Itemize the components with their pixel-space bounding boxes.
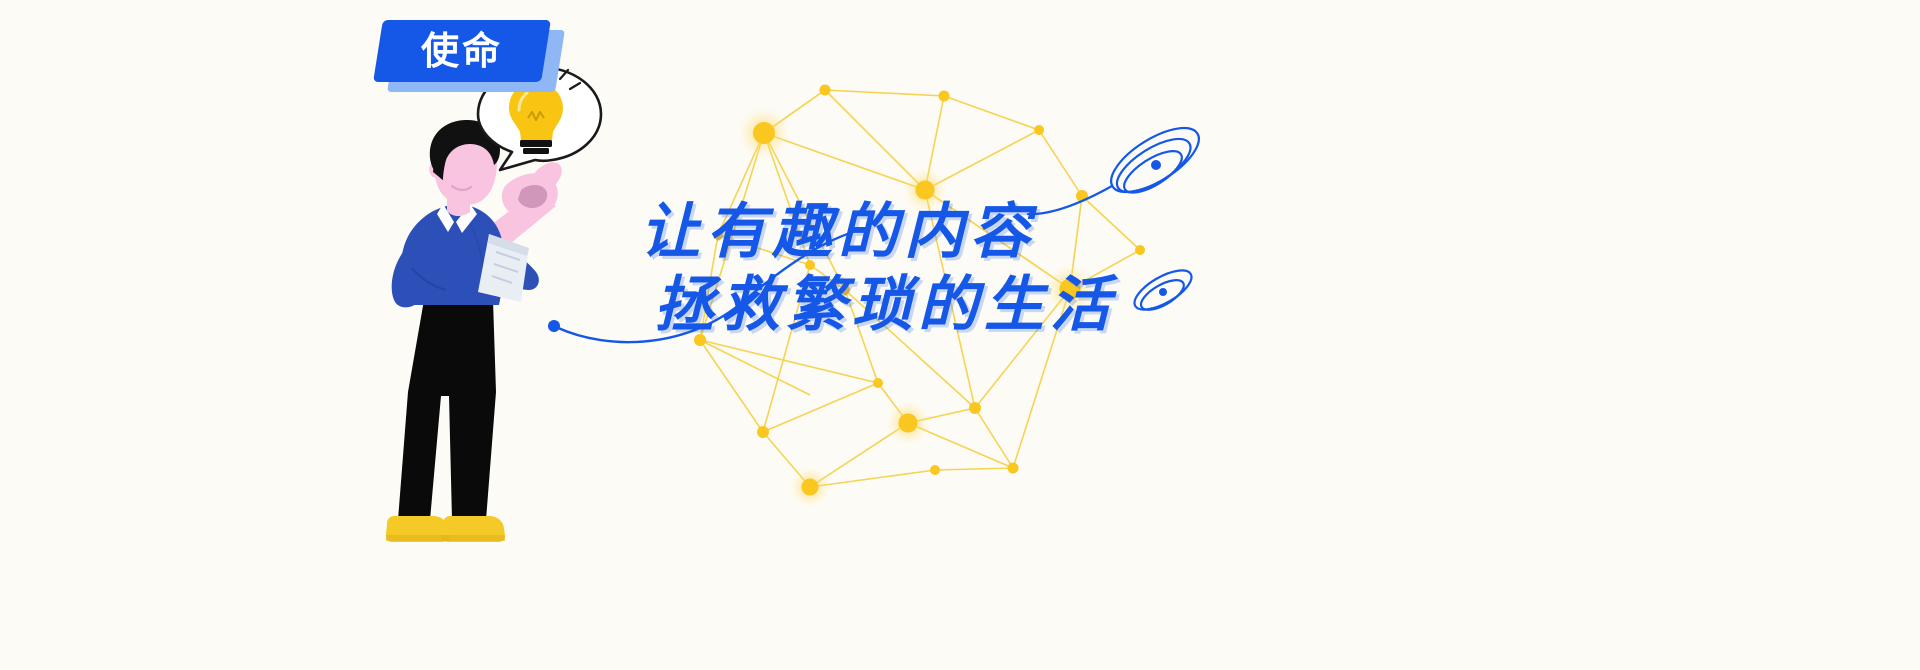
mission-badge: 使命	[378, 12, 563, 94]
badge-body: 使命	[373, 20, 551, 82]
badge-label: 使命	[421, 32, 503, 70]
speech-bubble	[0, 0, 1920, 670]
banner-canvas: 让有趣的内容 拯救繁琐的生活 使命	[0, 0, 1920, 670]
